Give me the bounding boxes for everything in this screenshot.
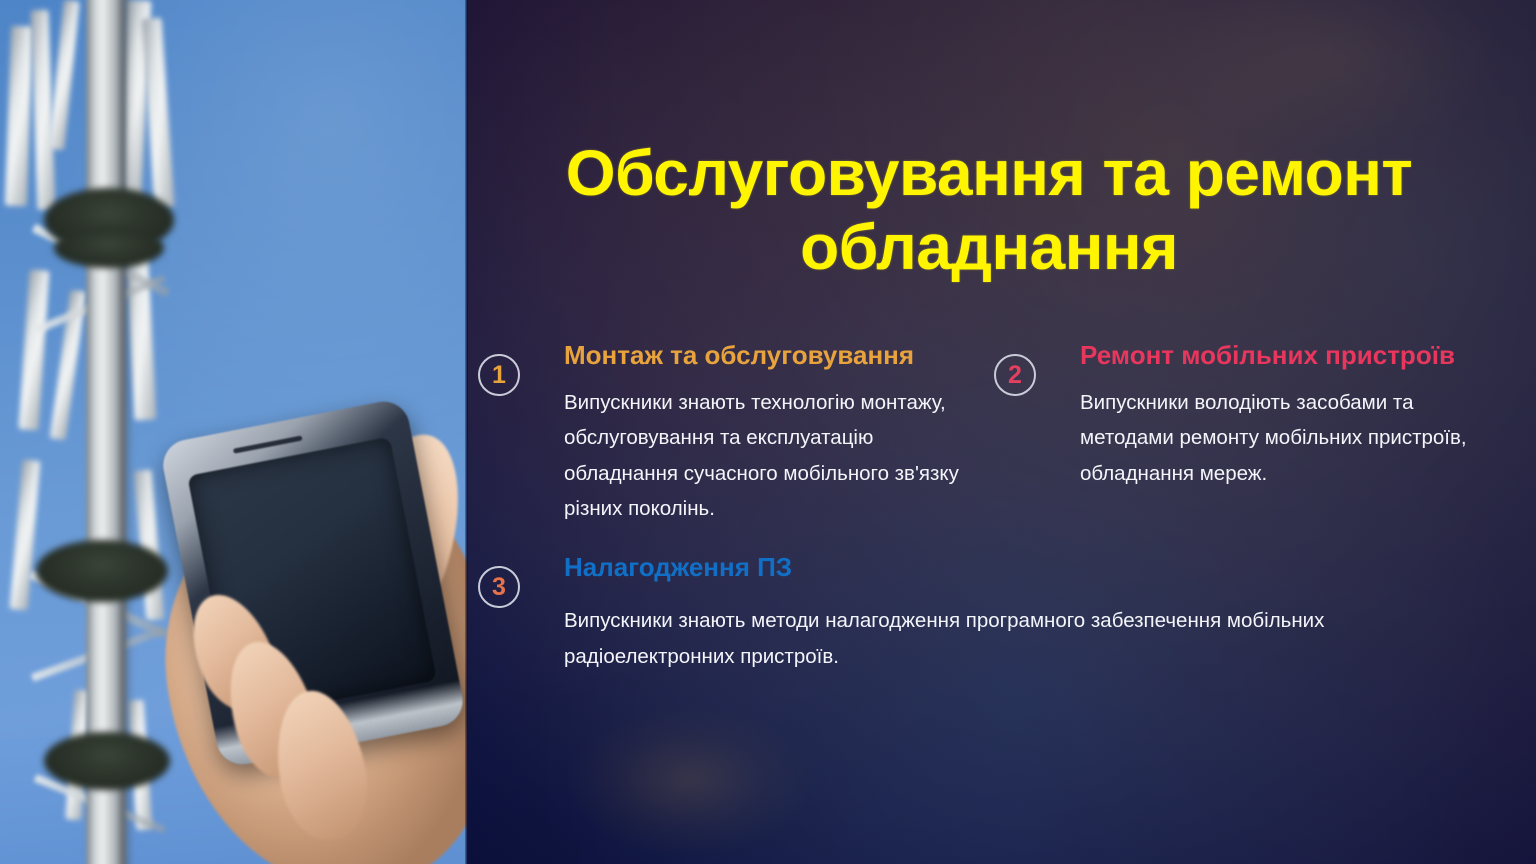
list-item-text-1: Випускники знають технологію монтажу, об… [564,381,976,526]
number-badge-3: 3 [478,566,520,608]
list-item-heading-1: Монтаж та обслуговування [564,340,976,371]
tower-collar [36,540,168,602]
slide-content: 1 Монтаж та обслуговування Випускники зн… [478,340,1508,674]
number-badge-label: 2 [1008,361,1022,390]
list-item-heading-2: Ремонт мобільних пристроїв [1080,340,1492,371]
number-badge-2: 2 [994,354,1036,396]
list-item-1: 1 Монтаж та обслуговування Випускники зн… [478,340,976,526]
photo-edge-divider [465,0,468,864]
list-item-body: Монтаж та обслуговування Випускники знаю… [478,340,976,526]
content-row-top: 1 Монтаж та обслуговування Випускники зн… [478,340,1508,526]
presentation-slide: Обслуговування та ремонт обладнання 1 Мо… [0,0,1536,864]
list-item-text-2: Випускники володіють засобами та методам… [1080,381,1492,491]
content-row-bottom: 3 Налагодження ПЗ Випускники знають мето… [478,552,1508,674]
list-item-2: 2 Ремонт мобільних пристроїв Випускники … [994,340,1492,526]
list-item-heading-3: Налагодження ПЗ [564,552,1488,583]
list-item-body: Ремонт мобільних пристроїв Випускники во… [994,340,1492,491]
number-badge-1: 1 [478,354,520,396]
number-badge-label: 1 [492,361,506,390]
list-item-text-3: Випускники знають методи налагодження пр… [564,593,1488,674]
number-badge-label: 3 [492,573,506,602]
tower-collar [44,732,170,790]
tower-collar [54,228,164,268]
hero-photo-cell-tower-phone [0,0,468,864]
slide-title: Обслуговування та ремонт обладнання [478,136,1500,284]
list-item-body: Налагодження ПЗ Випускники знають методи… [478,552,1488,674]
list-item-3: 3 Налагодження ПЗ Випускники знають мето… [478,552,1488,674]
phone-speaker-icon [233,435,303,453]
